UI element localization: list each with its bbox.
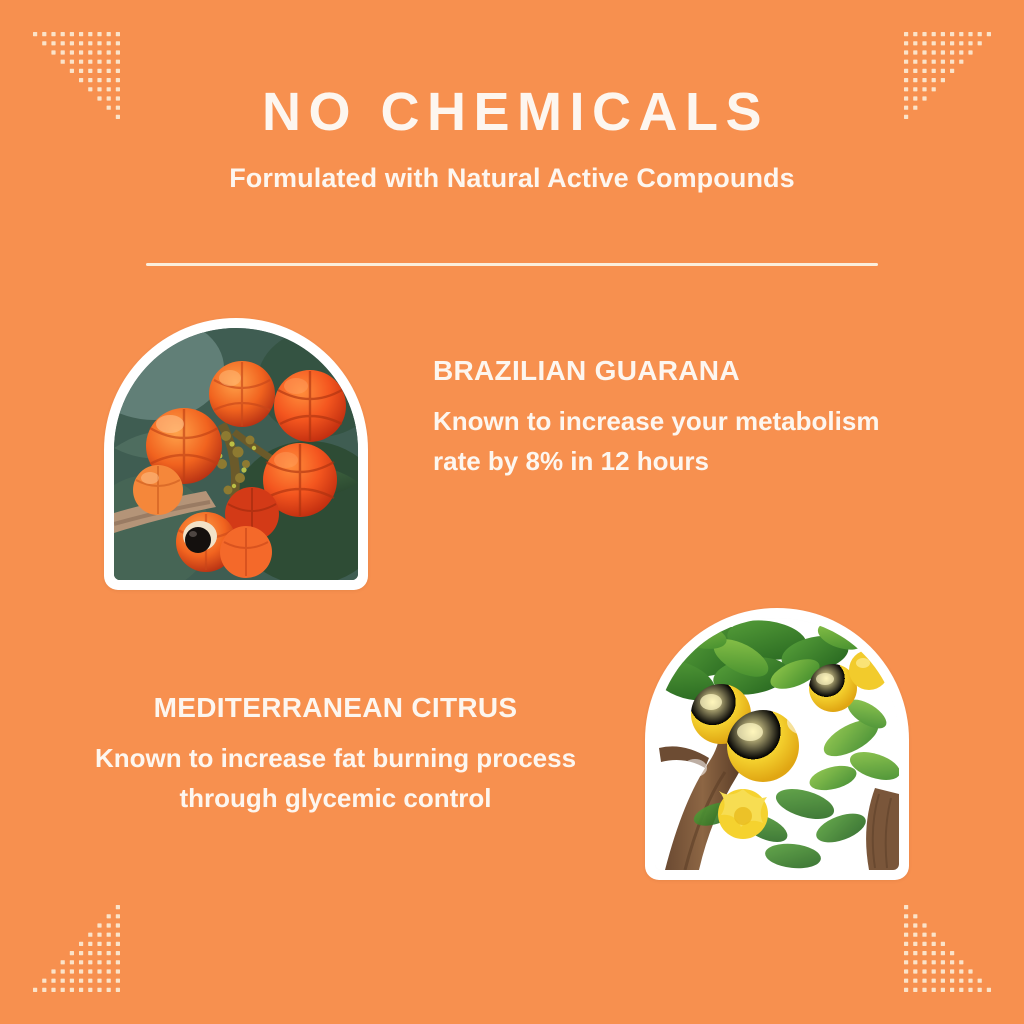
ingredient-description-guarana: Known to increase your metabolism rate b… (433, 401, 903, 481)
citrus-tree-with-yellow-fruit-photo (655, 618, 899, 870)
promo-graphic: NO CHEMICALS Formulated with Natural Act… (0, 0, 1024, 1024)
header: NO CHEMICALS Formulated with Natural Act… (0, 84, 1024, 194)
ingredient-image-citrus (645, 608, 909, 880)
ingredient-block-guarana: BRAZILIAN GUARANA Known to increase your… (433, 355, 903, 481)
ingredient-description-citrus: Known to increase fat burning process th… (48, 738, 623, 818)
ingredient-title-citrus: MEDITERRANEAN CITRUS (48, 692, 623, 724)
corner-dots-bottom-left (33, 892, 133, 992)
corner-dots-bottom-right (891, 892, 991, 992)
page-subtitle: Formulated with Natural Active Compounds (0, 141, 1024, 194)
divider (146, 263, 878, 266)
ingredient-title-guarana: BRAZILIAN GUARANA (433, 355, 903, 387)
ingredient-block-citrus: MEDITERRANEAN CITRUS Known to increase f… (48, 692, 623, 818)
ingredient-image-guarana (104, 318, 368, 590)
guarana-fruit-cluster-photo (114, 328, 358, 580)
page-title: NO CHEMICALS (0, 84, 1024, 141)
